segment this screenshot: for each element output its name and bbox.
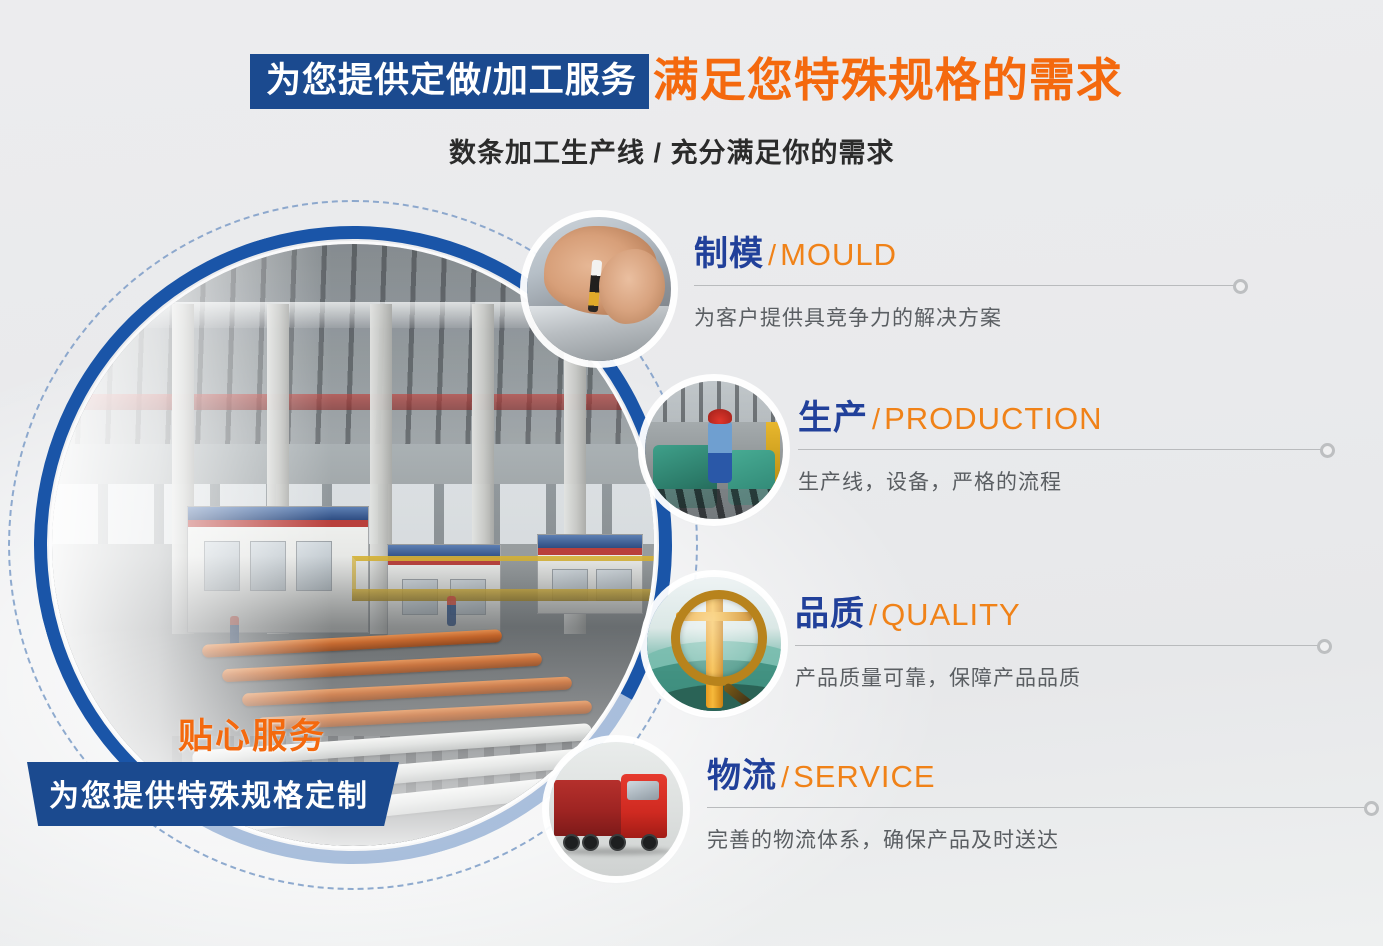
- promo-banner: 为您提供定做/加工服务 满足您特殊规格的需求 数条加工生产线 / 充分满足你的需…: [0, 0, 1383, 946]
- divider-end-dot-icon: [1233, 279, 1248, 294]
- feature-divider: [795, 645, 1318, 646]
- feature-text-mould: 制模/MOULD 为客户提供具竞争力的解决方案: [694, 237, 1234, 332]
- hand-scribing-tool-icon: [527, 217, 671, 361]
- divider-end-dot-icon: [1364, 801, 1379, 816]
- feature-divider: [798, 449, 1321, 450]
- feature-heading: 生产/PRODUCTION: [798, 401, 1383, 435]
- magnifier-lens: [671, 590, 767, 686]
- truck-container: [554, 780, 621, 836]
- feature-title-cn: 生产: [798, 399, 868, 437]
- truck-wheel: [643, 836, 656, 849]
- feature-title-en: PRODUCTION: [884, 401, 1102, 436]
- feature-slash: /: [872, 404, 880, 436]
- feature-description: 产品质量可靠，保障产品品质: [795, 662, 1383, 692]
- feature-title-en: QUALITY: [881, 597, 1021, 632]
- red-helmet: [708, 409, 731, 424]
- worker-body: [708, 420, 731, 483]
- steel-stock: [645, 489, 783, 519]
- truck-wheel: [584, 836, 597, 849]
- feature-title-cn: 制模: [694, 235, 764, 273]
- truck-wheel: [565, 836, 578, 849]
- feature-title-cn: 品质: [795, 595, 865, 633]
- magnifying-glass-icon: [647, 577, 781, 711]
- feature-title-en: SERVICE: [793, 759, 936, 794]
- feature-heading: 品质/QUALITY: [795, 597, 1383, 631]
- divider-end-dot-icon: [1320, 443, 1335, 458]
- feature-slash: /: [869, 600, 877, 632]
- feature-text-production: 生产/PRODUCTION 生产线，设备，严格的流程: [798, 401, 1383, 496]
- feature-heading: 物流/SERVICE: [707, 759, 1382, 793]
- factory-worker-icon: [645, 381, 783, 519]
- feature-divider: [694, 285, 1234, 286]
- feature-description: 完善的物流体系，确保产品及时送达: [707, 824, 1382, 854]
- truck-window: [627, 781, 659, 800]
- feature-title-en: MOULD: [780, 237, 897, 272]
- feature-heading: 制模/MOULD: [694, 237, 1234, 271]
- feature-description: 生产线，设备，严格的流程: [798, 466, 1383, 496]
- feature-divider: [707, 807, 1365, 808]
- feature-text-service: 物流/SERVICE 完善的物流体系，确保产品及时送达: [707, 759, 1382, 854]
- truck-wheel: [611, 836, 624, 849]
- feature-description: 为客户提供具竞争力的解决方案: [694, 302, 1234, 332]
- feature-slash: /: [781, 762, 789, 794]
- feature-slash: /: [768, 240, 776, 272]
- feature-title-cn: 物流: [707, 757, 777, 795]
- divider-end-dot-icon: [1317, 639, 1332, 654]
- red-truck-icon: [549, 742, 683, 876]
- feature-list: 制模/MOULD 为客户提供具竞争力的解决方案: [0, 0, 1383, 946]
- feature-text-quality: 品质/QUALITY 产品质量可靠，保障产品品质: [795, 597, 1383, 692]
